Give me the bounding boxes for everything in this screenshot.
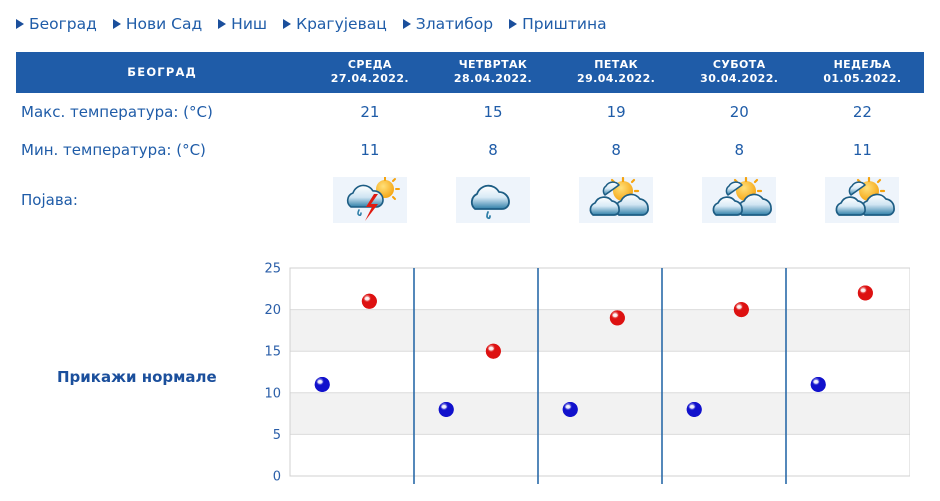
city-link-label: Ниш [231, 15, 267, 33]
row-label-max-temp: Макс. температура: (°C) [16, 93, 308, 131]
svg-text:25: 25 [264, 262, 281, 277]
svg-text:10: 10 [264, 386, 281, 401]
max-temp-value-0: 21 [308, 93, 431, 131]
row-label-phenomenon: Појава: [16, 169, 308, 231]
triangle-right-icon [283, 19, 291, 29]
sun-behind-clouds-icon [579, 177, 653, 223]
city-link-beograd[interactable]: Београд [16, 15, 97, 33]
cloud-drizzle-icon [456, 177, 530, 223]
table-row-phenomenon: Појава: [16, 169, 924, 231]
phenomenon-cell-0 [308, 169, 431, 231]
show-normals-link[interactable]: Прикажи нормале [57, 368, 217, 386]
phenomenon-cell-2 [555, 169, 678, 231]
day-header-cell-0: СРЕДА 27.04.2022. [308, 52, 431, 93]
day-name: СРЕДА [308, 58, 431, 72]
triangle-right-icon [218, 19, 226, 29]
day-date: 28.04.2022. [431, 72, 554, 86]
min-temp-value-2: 8 [555, 131, 678, 169]
sun-behind-clouds-icon [702, 177, 776, 223]
day-header-cell-4: НЕДЕЉА 01.05.2022. [801, 52, 924, 93]
city-link-kragujevac[interactable]: Крагујевац [283, 15, 387, 33]
min-temp-value-1: 8 [431, 131, 554, 169]
svg-text:5: 5 [273, 428, 281, 443]
day-date: 27.04.2022. [308, 72, 431, 86]
day-header-cell-3: СУБОТА 30.04.2022. [678, 52, 801, 93]
forecast-table-body: Макс. температура: (°C) 21 15 19 20 22 М… [16, 93, 924, 231]
day-name: ЧЕТВРТАК [431, 58, 554, 72]
day-date: 01.05.2022. [801, 72, 924, 86]
triangle-right-icon [16, 19, 24, 29]
triangle-right-icon [403, 19, 411, 29]
chart-canvas: 0510152025 [250, 258, 910, 501]
max-temp-value-2: 19 [555, 93, 678, 131]
svg-text:20: 20 [264, 303, 281, 318]
city-link-zlatibor[interactable]: Златибор [403, 15, 493, 33]
forecast-table: БЕОГРАД СРЕДА 27.04.2022. ЧЕТВРТАК 28.04… [16, 52, 924, 231]
city-link-pristina[interactable]: Приштина [509, 15, 607, 33]
city-link-label: Приштина [522, 15, 607, 33]
max-temp-value-3: 20 [678, 93, 801, 131]
day-name: ПЕТАК [555, 58, 678, 72]
city-nav: Београд Нови Сад Ниш Крагујевац Златибор… [16, 12, 924, 36]
sun-cloud-thunderstorm-rain-icon [333, 177, 407, 223]
max-temp-value-1: 15 [431, 93, 554, 131]
table-row-max-temp: Макс. температура: (°C) 21 15 19 20 22 [16, 93, 924, 131]
row-label-min-temp: Мин. температура: (°C) [16, 131, 308, 169]
day-name: СУБОТА [678, 58, 801, 72]
city-link-label: Београд [29, 15, 97, 33]
day-name: НЕДЕЉА [801, 58, 924, 72]
city-header-cell: БЕОГРАД [16, 52, 308, 93]
min-temp-value-4: 11 [801, 131, 924, 169]
phenomenon-cell-4 [801, 169, 924, 231]
city-link-label: Нови Сад [126, 15, 202, 33]
day-date: 30.04.2022. [678, 72, 801, 86]
city-link-nis[interactable]: Ниш [218, 15, 267, 33]
svg-text:0: 0 [273, 470, 281, 485]
max-temp-value-4: 22 [801, 93, 924, 131]
table-header-row: БЕОГРАД СРЕДА 27.04.2022. ЧЕТВРТАК 28.04… [16, 52, 924, 93]
triangle-right-icon [113, 19, 121, 29]
svg-text:15: 15 [264, 345, 281, 360]
day-header-cell-1: ЧЕТВРТАК 28.04.2022. [431, 52, 554, 93]
phenomenon-cell-1 [431, 169, 554, 231]
sun-behind-clouds-icon [825, 177, 899, 223]
day-header-cell-2: ПЕТАК 29.04.2022. [555, 52, 678, 93]
triangle-right-icon [509, 19, 517, 29]
min-temp-value-0: 11 [308, 131, 431, 169]
table-row-min-temp: Мин. температура: (°C) 11 8 8 8 11 [16, 131, 924, 169]
phenomenon-cell-3 [678, 169, 801, 231]
city-link-label: Крагујевац [296, 15, 387, 33]
forecast-table-header: БЕОГРАД СРЕДА 27.04.2022. ЧЕТВРТАК 28.04… [16, 52, 924, 93]
city-link-label: Златибор [416, 15, 493, 33]
day-date: 29.04.2022. [555, 72, 678, 86]
temperature-chart: Прикажи нормале 0510152025 [0, 258, 940, 501]
min-temp-value-3: 8 [678, 131, 801, 169]
city-link-novi-sad[interactable]: Нови Сад [113, 15, 202, 33]
